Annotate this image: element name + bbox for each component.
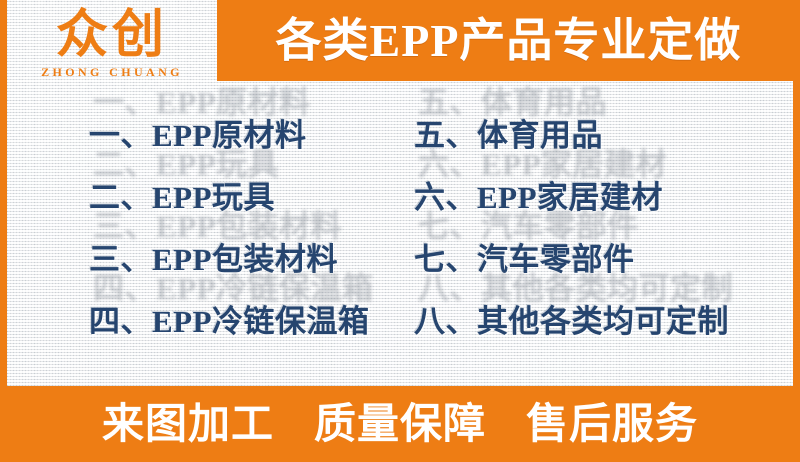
brand-logo: 众创 ZHONG CHUANG (14, 4, 210, 86)
promo-poster: 众创 ZHONG CHUANG 各类EPP产品专业定做 一、EPP原材料 一、E… (0, 0, 800, 462)
category-column-left: 一、EPP原材料 一、EPP原材料 二、EPP玩具 二、EPP玩具 三、EPP包… (7, 88, 400, 380)
item-ghost-echo: 一、EPP原材料 (93, 87, 311, 118)
category-column-right: 五、体育用品 五、体育用品 六、EPP家居建材 六、EPP家居建材 七、汽车零部… (400, 88, 793, 380)
footer-item-3: 售后服务 (526, 403, 698, 445)
category-item-8: 八、其他各类均可定制 (414, 306, 729, 337)
list-item: 三、EPP包装材料 三、EPP包装材料 (89, 228, 400, 290)
list-item: 六、EPP家居建材 六、EPP家居建材 (414, 166, 793, 228)
list-item: 五、体育用品 五、体育用品 (414, 104, 793, 166)
footer-item-2: 质量保障 (314, 403, 486, 445)
category-item-4: 四、EPP冷链保温箱 (89, 306, 370, 337)
footer-banner: 来图加工 质量保障 售后服务 (0, 386, 800, 462)
category-item-6: 六、EPP家居建材 (414, 182, 663, 213)
category-item-1: 一、EPP原材料 (89, 120, 307, 151)
item-ghost-echo: 五、体育用品 (418, 87, 607, 118)
list-item: 八、其他各类均可定制 八、其他各类均可定制 (414, 290, 793, 352)
header-banner: 各类EPP产品专业定做 (217, 0, 800, 81)
logo-pinyin-text: ZHONG CHUANG (41, 65, 183, 80)
category-list: 一、EPP原材料 一、EPP原材料 二、EPP玩具 二、EPP玩具 三、EPP包… (7, 88, 793, 380)
logo-chinese-mark: 众创 (56, 10, 168, 62)
category-item-5: 五、体育用品 (414, 120, 603, 151)
list-item: 四、EPP冷链保温箱 四、EPP冷链保温箱 (89, 290, 400, 352)
list-item: 二、EPP玩具 二、EPP玩具 (89, 166, 400, 228)
category-item-2: 二、EPP玩具 (89, 182, 275, 213)
category-item-7: 七、汽车零部件 (414, 244, 635, 275)
category-item-3: 三、EPP包装材料 (89, 244, 338, 275)
footer-item-1: 来图加工 (102, 403, 274, 445)
header-title: 各类EPP产品专业定做 (276, 18, 742, 64)
list-item: 一、EPP原材料 一、EPP原材料 (89, 104, 400, 166)
list-item: 七、汽车零部件 七、汽车零部件 (414, 228, 793, 290)
